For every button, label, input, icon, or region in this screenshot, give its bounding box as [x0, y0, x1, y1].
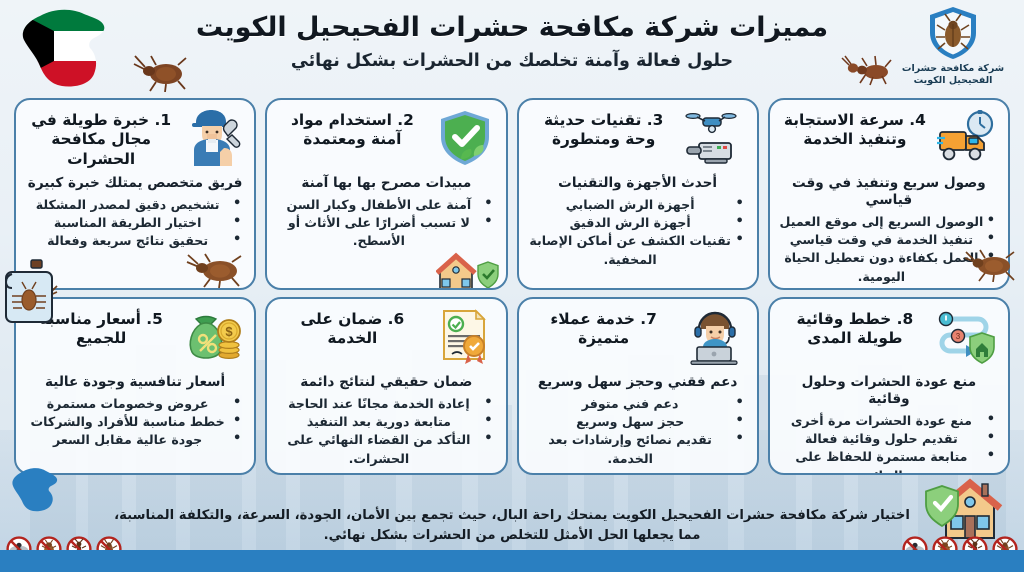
- certificate-badge-icon: [433, 306, 497, 368]
- card-lead: ضمان حقيقي لنتائج دائمة: [276, 374, 496, 391]
- list-item: جودة عالية مقابل السعر: [25, 431, 241, 449]
- list-item: تقديم حلول وقائية فعالة: [779, 430, 995, 448]
- feature-card-2[interactable]: 2. استخدام مواد آمنة ومعتمدة مبيدات مصرح…: [265, 98, 507, 290]
- card-bullet-list: الوصول السريع إلى موقع العميل تنفيذ الخد…: [779, 213, 999, 286]
- cockroach-decoration: [186, 252, 250, 288]
- delivery-truck-stopwatch-icon: [935, 107, 999, 169]
- list-item: أجهزة الرش الضبابي: [528, 196, 744, 214]
- list-item: الوصول السريع إلى موقع العميل: [779, 213, 995, 231]
- logo-text-line1: شركة مكافحة حشرات: [888, 63, 1018, 75]
- card-header: 3. تقنيات حديثة وحة ومتطورة: [528, 107, 748, 169]
- feature-card-3[interactable]: 3. تقنيات حديثة وحة ومتطورة أحدث الأجهزة…: [517, 98, 759, 290]
- feature-card-6[interactable]: 6. ضمان على الخدمة ضمان حقيقي لنتائج دائ…: [265, 297, 507, 475]
- list-item: تقنيات الكشف عن أماكن الإصابة المخفية.: [528, 232, 744, 269]
- list-item: تشخيص دقيق لمصدر المشكلة: [25, 196, 241, 214]
- roadmap-shield-home-icon: 3: [935, 306, 999, 368]
- list-item: تحقيق نتائج سريعة وفعالة: [25, 232, 241, 250]
- list-item: أجهزة الرش الدقيق: [528, 214, 744, 232]
- card-title: 1. خبرة طويلة في مجال مكافحة الحشرات: [25, 107, 177, 169]
- card-title: 7. خدمة عملاء متميزة: [528, 306, 680, 349]
- card-title: 3. تقنيات حديثة وحة ومتطورة: [528, 107, 680, 150]
- features-grid: 4. سرعة الاستجابة وتنفيذ الخدمة وصول سري…: [14, 98, 1010, 475]
- card-header: 3 8. خطط وقائية طويلة المدى: [779, 306, 999, 368]
- card-title: 6. ضمان على الخدمة: [276, 306, 428, 349]
- technician-worker-icon: [181, 107, 245, 169]
- card-bullet-list: منع عودة الحشرات مرة أخرى تقديم حلول وقا…: [779, 412, 999, 475]
- list-item: خطط مناسبة للأفراد والشركات: [25, 413, 241, 431]
- card-bullet-list: عروض وخصومات مستمرة خطط مناسبة للأفراد و…: [25, 395, 245, 450]
- card-title: 4. سرعة الاستجابة وتنفيذ الخدمة: [779, 107, 931, 150]
- logo-text-line2: الفحيحيل الكويت: [888, 75, 1018, 87]
- card-header: $ 5. أسعار مناسبة للجميع: [25, 306, 245, 368]
- card-header: 4. سرعة الاستجابة وتنفيذ الخدمة: [779, 107, 999, 169]
- footer-text: اختيار شركة مكافحة حشرات الفحيحيل الكويت…: [0, 506, 1024, 546]
- card-bullet-list: إعادة الخدمة مجانًا عند الحاجة متابعة دو…: [276, 395, 496, 468]
- list-item: إعادة الخدمة مجانًا عند الحاجة: [276, 395, 492, 413]
- shield-cockroach-logo: [924, 4, 982, 62]
- card-header: 1. خبرة طويلة في مجال مكافحة الحشرات: [25, 107, 245, 169]
- bottom-bar: [0, 550, 1024, 572]
- list-item: تنفيذ الخدمة في وقت قياسي: [779, 231, 995, 249]
- card-header: 6. ضمان على الخدمة: [276, 306, 496, 368]
- list-item: عروض وخصومات مستمرة: [25, 395, 241, 413]
- card-lead: منع عودة الحشرات وحلول وقائية: [779, 374, 999, 408]
- card-lead: مبيدات مصرح بها بها آمنة: [276, 175, 496, 192]
- card-bullet-list: آمنة على الأطفال وكبار السن لا تسبب أضرا…: [276, 196, 496, 251]
- page-title: مميزات شركة مكافحة حشرات الفحيحيل الكويت: [0, 12, 1024, 43]
- footer-line-1: اختيار شركة مكافحة حشرات الفحيحيل الكويت…: [110, 506, 914, 526]
- card-header: 7. خدمة عملاء متميزة: [528, 306, 748, 368]
- card-bullet-list: دعم فني متوفر حجز سهل وسريع تقديم نصائح …: [528, 395, 748, 468]
- feature-card-7[interactable]: 7. خدمة عملاء متميزة دعم فقني وحجز سهل و…: [517, 297, 759, 475]
- list-item: اختيار الطريقة المناسبة: [25, 214, 241, 232]
- card-header: 2. استخدام مواد آمنة ومعتمدة: [276, 107, 496, 169]
- card-lead: وصول سريع وتنفيذ في وقت قياسي: [779, 175, 999, 209]
- feature-card-4[interactable]: 4. سرعة الاستجابة وتنفيذ الخدمة وصول سري…: [768, 98, 1010, 290]
- list-item: دعم فني متوفر: [528, 395, 744, 413]
- card-lead: أحدث الأجهزة والتقنيات: [528, 175, 748, 192]
- card-title: 8. خطط وقائية طويلة المدى: [779, 306, 931, 349]
- list-item: متابعة دورية بعد التنفيذ: [276, 413, 492, 431]
- svg-text:$: $: [226, 324, 234, 339]
- drone-fogger-icon: [684, 107, 748, 169]
- list-item: منع عودة الحشرات مرة أخرى: [779, 412, 995, 430]
- card-title: 2. استخدام مواد آمنة ومعتمدة: [276, 107, 428, 150]
- list-item: حجز سهل وسريع: [528, 413, 744, 431]
- list-item: متابعة مستمرة للحفاظ على النتائج.: [779, 448, 995, 475]
- title-block: مميزات شركة مكافحة حشرات الفحيحيل الكويت…: [0, 0, 1024, 71]
- list-item: التأكد من القضاء النهائي على الحشرات.: [276, 431, 492, 468]
- feature-card-8[interactable]: 3 8. خطط وقائية طويلة المدى منع عودة الح…: [768, 297, 1010, 475]
- page-subtitle: حلول فعالة وآمنة تخلصك من الحشرات بشكل ن…: [0, 51, 1024, 71]
- list-item: العمل بكفاءة دون تعطيل الحياة اليومية.: [779, 249, 995, 286]
- green-shield-leaf-icon: [433, 107, 497, 169]
- infographic-canvas: شركة مكافحة حشرات الفحيحيل الكويت مميزات…: [0, 0, 1024, 572]
- support-agent-headset-icon: [684, 306, 748, 368]
- company-logo: شركة مكافحة حشرات الفحيحيل الكويت: [888, 4, 1018, 87]
- card-lead: فريق متخصص يمتلك خبرة كبيرة: [25, 175, 245, 192]
- svg-text:3: 3: [956, 332, 961, 341]
- feature-card-1[interactable]: 1. خبرة طويلة في مجال مكافحة الحشرات فري…: [14, 98, 256, 290]
- card-lead: دعم فقني وحجز سهل وسريع: [528, 374, 748, 391]
- header: شركة مكافحة حشرات الفحيحيل الكويت مميزات…: [0, 0, 1024, 96]
- money-bag-coins-icon: $: [181, 306, 245, 368]
- card-title: 5. أسعار مناسبة للجميع: [25, 306, 177, 349]
- list-item: آمنة على الأطفال وكبار السن: [276, 196, 492, 214]
- feature-card-5[interactable]: $ 5. أسعار مناسبة للجميع أسعار تنافسية و…: [14, 297, 256, 475]
- kuwait-flag-map: [10, 2, 114, 90]
- list-item: تقديم نصائح وإرشادات بعد الخدمة.: [528, 431, 744, 468]
- card-lead: أسعار تنافسية وجودة عالية: [25, 374, 245, 391]
- card-bullet-list: أجهزة الرش الضبابي أجهزة الرش الدقيق تقن…: [528, 196, 748, 269]
- footer-line-2: مما يجعلها الحل الأمثل للتخلص من الحشرات…: [110, 526, 914, 546]
- card-bullet-list: تشخيص دقيق لمصدر المشكلة اختيار الطريقة …: [25, 196, 245, 251]
- house-shield-icon: [436, 246, 502, 290]
